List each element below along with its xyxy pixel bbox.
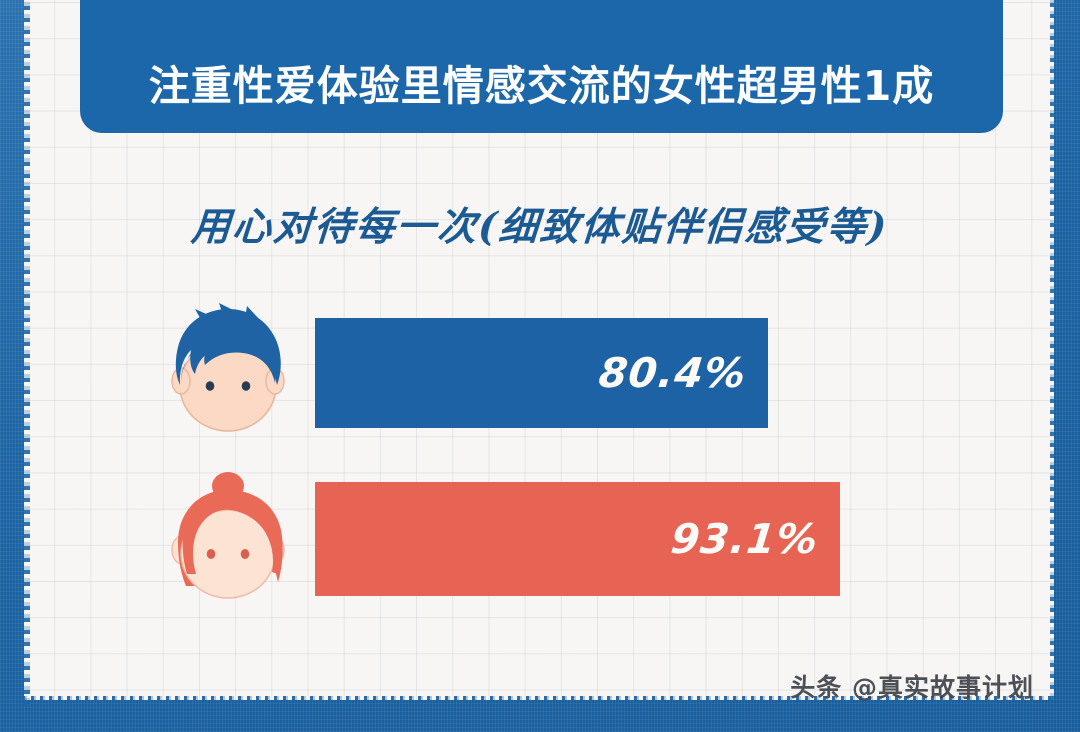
- male-avatar-icon: [165, 303, 291, 435]
- bar-value-female: 93.1%: [669, 519, 821, 560]
- bar-female: 93.1%: [315, 482, 840, 596]
- chart-row-female: 93.1%: [0, 470, 1080, 602]
- bar-value-male: 80.4%: [597, 353, 749, 394]
- chart-row-male: 80.4%: [0, 303, 1080, 435]
- infographic-poster: 注重性爱体验里情感交流的女性超男性1成 用心对待每一次(细致体贴伴侣感受等): [0, 0, 1080, 732]
- page-title: 注重性爱体验里情感交流的女性超男性1成: [149, 66, 935, 107]
- chart-subtitle: 用心对待每一次(细致体贴伴侣感受等): [0, 196, 1080, 252]
- female-avatar-icon: [165, 470, 291, 602]
- bar-male: 80.4%: [315, 318, 768, 428]
- watermark-attribution: 头条 @真实故事计划: [790, 668, 1034, 704]
- title-banner: 注重性爱体验里情感交流的女性超男性1成: [80, 0, 1003, 133]
